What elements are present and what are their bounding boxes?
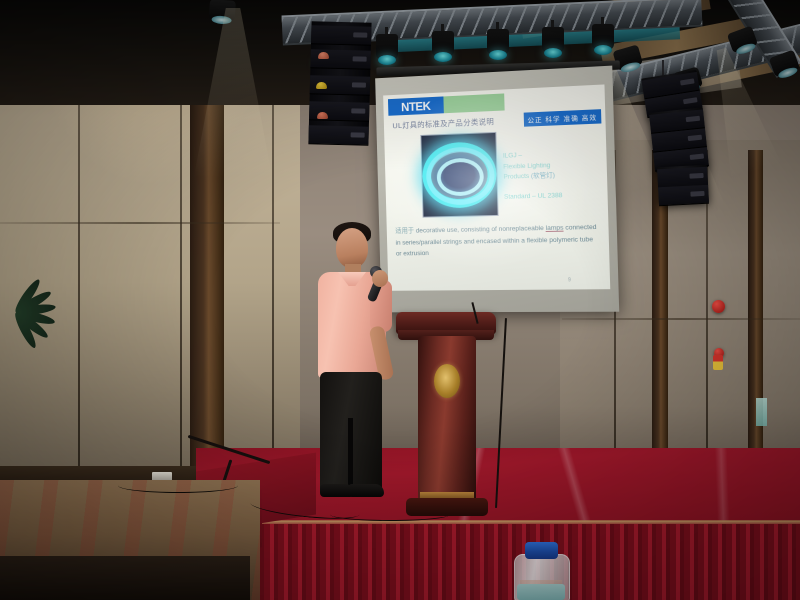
presenter-leg-gap	[348, 418, 353, 490]
hardhat-yellow	[316, 82, 327, 89]
slide-product-info: ILGJ – Flexible Lighting Products (软管灯)	[503, 148, 601, 184]
fire-alarm-bell	[712, 300, 725, 313]
presenter-hand	[372, 270, 388, 287]
product-name-line2-wrap: Products (软管灯)	[503, 170, 601, 184]
product-name-cn: (软管灯)	[531, 172, 555, 180]
ntek-logo-text: NTEK	[401, 99, 431, 114]
par-can-light	[542, 27, 564, 53]
presenter	[300, 222, 410, 512]
slide-standard: Standard – UL 2388	[504, 192, 562, 201]
slide-title: UL灯具的标准及产品分类说明	[392, 116, 494, 131]
ntek-logo: NTEK	[388, 96, 444, 115]
podium-column	[418, 336, 476, 504]
water-bottle	[510, 540, 572, 600]
fire-call-point	[713, 355, 723, 370]
slide-body-text: 适用于 decorative use, consisting of nonrep…	[395, 222, 600, 260]
hardhat-orange	[317, 112, 328, 119]
presentation-slide: NTEK UL灯具的标准及产品分类说明 公正 科学 准确 高效 ILGJ – F…	[383, 84, 610, 290]
hardhat-orange	[318, 52, 329, 59]
wall-wash-light	[209, 0, 236, 21]
slide-slogan-badge: 公正 科学 准确 高效	[523, 109, 601, 127]
presenter-shoe-right	[348, 484, 384, 497]
body-text-1: decorative use, consisting of nonreplace…	[416, 225, 544, 235]
door-light-gap	[756, 398, 767, 426]
product-name-line2: Products	[503, 173, 529, 181]
podium-base	[406, 498, 488, 516]
floor-cable	[118, 478, 238, 493]
par-can-light	[432, 31, 454, 57]
slide-product-image	[420, 132, 498, 218]
slide-logo-bar: NTEK	[388, 93, 505, 115]
line-array-right-mid	[649, 107, 709, 172]
logo-green-block	[443, 93, 504, 113]
body-text-2: lamps	[546, 225, 564, 232]
bottle-water	[517, 584, 565, 600]
par-can-light	[592, 24, 614, 50]
line-array-right-bottom	[657, 165, 709, 206]
wall-column	[748, 150, 763, 480]
projection-screen: NTEK UL灯具的标准及产品分类说明 公正 科学 准确 高效 ILGJ – F…	[375, 66, 619, 313]
potted-plant	[0, 268, 64, 398]
slide-page-number: 9	[568, 277, 571, 283]
par-can-light	[487, 29, 509, 55]
presenter-head	[336, 228, 368, 268]
wall-seam-horizontal	[562, 318, 800, 320]
conference-hall-photo: NTEK UL灯具的标准及产品分类说明 公正 科学 准确 高效 ILGJ – F…	[0, 0, 800, 600]
wall-seam-horizontal	[0, 222, 280, 224]
floor-shadow	[0, 556, 250, 600]
par-can-light	[376, 34, 398, 60]
podium-gold-emblem	[434, 364, 460, 398]
bottle-cap	[525, 542, 558, 559]
led-rope-light-coil-icon	[422, 141, 498, 209]
